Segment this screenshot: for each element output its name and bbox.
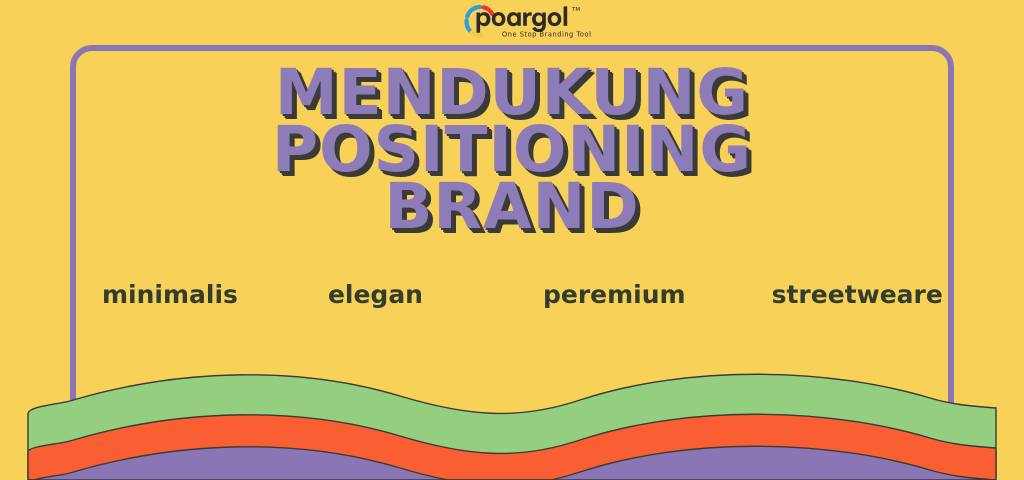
- logo-svg: TM One Stop Branding Tools: [462, 1, 592, 43]
- logo-trademark: TM: [571, 7, 580, 13]
- title-line-1: MENDUKUNG: [0, 66, 1024, 119]
- pargol-logo: TM One Stop Branding Tools: [462, 1, 592, 43]
- keyword-row: minimalis elegan peremium streetweare: [70, 272, 954, 316]
- poster-title: MENDUKUNG POSITIONING BRAND: [0, 66, 1024, 233]
- keyword-elegan: elegan: [328, 280, 423, 309]
- keyword-peremium: peremium: [543, 280, 686, 309]
- keyword-minimalis: minimalis: [102, 280, 238, 309]
- wave-decoration: [0, 360, 1024, 480]
- title-line-3: BRAND: [0, 180, 1024, 233]
- keyword-streetweare: streetweare: [772, 280, 943, 309]
- title-line-2: POSITIONING: [0, 123, 1024, 176]
- logo-tagline: One Stop Branding Tools: [502, 31, 592, 39]
- poster-canvas: TM One Stop Branding Tools MENDUKUNG POS…: [0, 0, 1024, 480]
- wave-svg: [0, 360, 1024, 480]
